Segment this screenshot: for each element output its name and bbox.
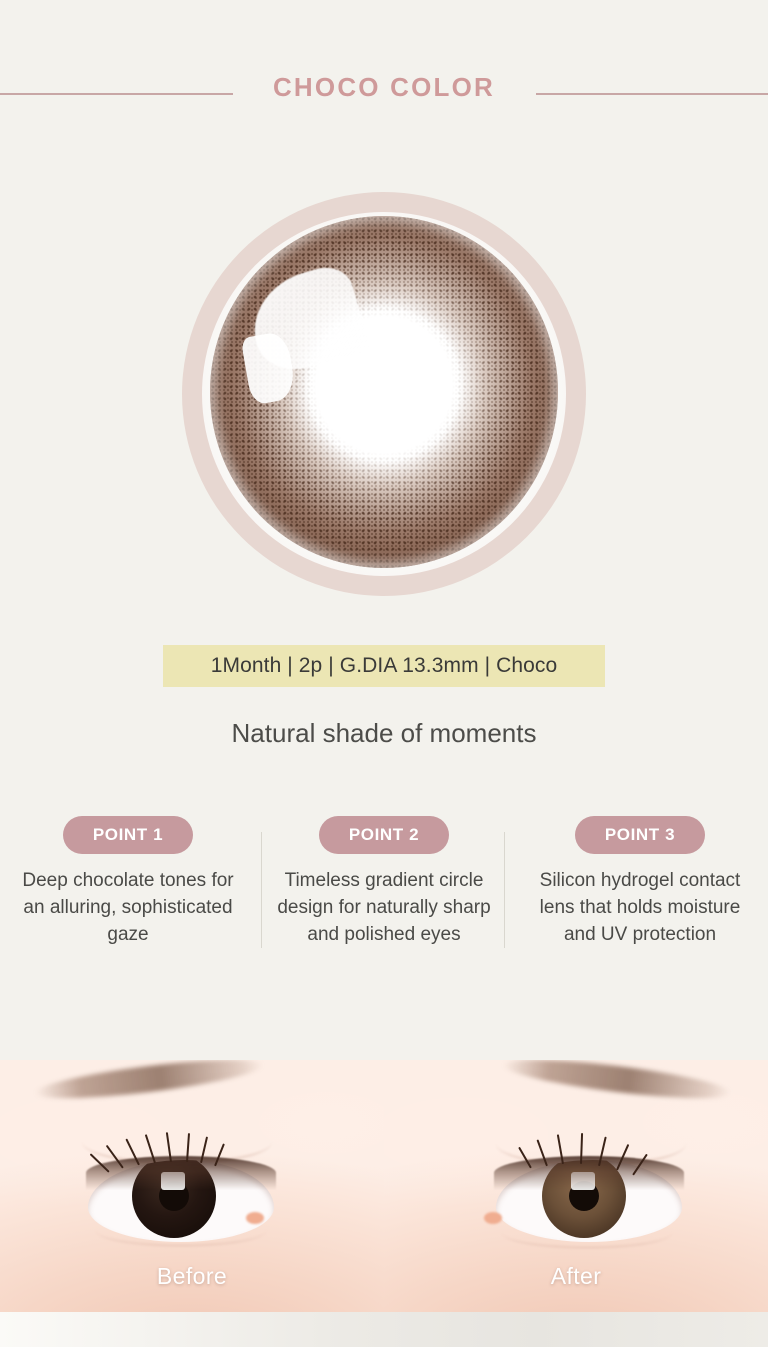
point-column-1: POINT 1 Deep chocolate tones for an allu… — [0, 816, 256, 1016]
point-badge-1: POINT 1 — [63, 816, 193, 854]
before-after-section: Before After — [0, 1060, 768, 1312]
after-tear-duct — [484, 1212, 502, 1224]
after-under-eye — [502, 1218, 672, 1248]
spec-badge: 1Month | 2p | G.DIA 13.3mm | Choco — [163, 645, 605, 687]
page-header: CHOCO COLOR — [0, 72, 768, 120]
lens-product-image — [182, 192, 586, 596]
point-column-3: POINT 3 Silicon hydrogel contact lens th… — [512, 816, 768, 1016]
page-title: CHOCO COLOR — [0, 72, 768, 103]
point-column-2: POINT 2 Timeless gradient circle design … — [256, 816, 512, 1016]
bottom-strip — [0, 1312, 768, 1347]
before-under-eye — [96, 1216, 266, 1246]
before-lash-line — [86, 1156, 276, 1190]
after-photo: After — [384, 1060, 768, 1312]
product-tagline: Natural shade of moments — [0, 718, 768, 749]
point-badge-2: POINT 2 — [319, 816, 449, 854]
point-description-3: Silicon hydrogel contact lens that holds… — [533, 868, 748, 949]
lens-edge-glow — [210, 216, 558, 568]
after-caption: After — [384, 1263, 768, 1290]
points-section: POINT 1 Deep chocolate tones for an allu… — [0, 816, 768, 1016]
point-description-2: Timeless gradient circle design for natu… — [277, 868, 492, 949]
point-description-1: Deep chocolate tones for an alluring, so… — [21, 868, 236, 949]
before-photo: Before — [0, 1060, 384, 1312]
before-caption: Before — [0, 1263, 384, 1290]
product-detail-page: CHOCO COLOR 1Month | 2p | G.DIA 13.3mm |… — [0, 0, 768, 1347]
after-lash-line — [494, 1156, 684, 1190]
point-badge-3: POINT 3 — [575, 816, 705, 854]
